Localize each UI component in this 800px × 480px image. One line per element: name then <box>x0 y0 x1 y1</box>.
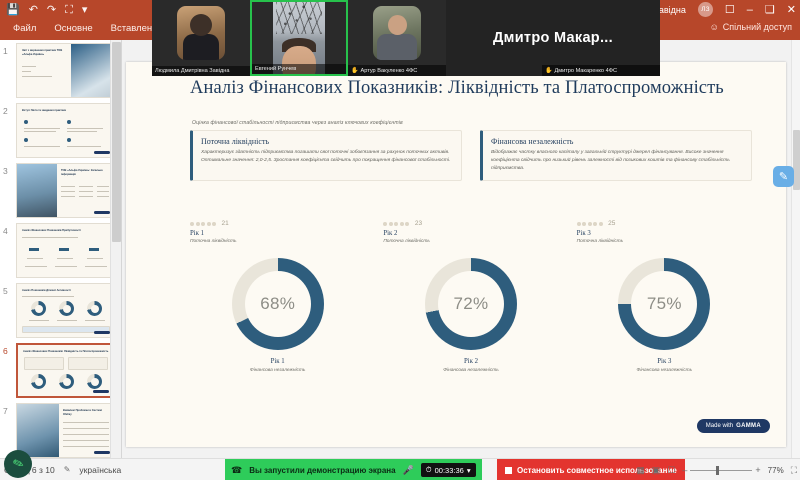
zoom-track[interactable] <box>690 470 752 471</box>
customize-qat-icon[interactable]: ▾ <box>82 5 88 16</box>
rating-dot <box>196 222 200 226</box>
gamma-badge <box>94 451 110 455</box>
participant-tile-3-spotlight[interactable]: Дмитро Макар... ✋ Дмитро Макаренко 4ФС <box>446 0 660 76</box>
donut-chart: 68% <box>232 258 324 350</box>
donut-value: 72% <box>454 294 489 314</box>
person-icon: ☺ <box>710 22 719 32</box>
donut-year-2: 72% Рік 2 Фінансова незалежність <box>383 258 558 373</box>
redo-icon[interactable]: ↷ <box>47 5 56 16</box>
stat-label: Рік 3 <box>577 230 752 237</box>
stat-sublabel: Поточна ліквідність <box>190 239 365 244</box>
slide-thumbnail-panel[interactable]: 1 Звіт з вирішення практики ТОВ «Альфа У… <box>0 40 122 458</box>
share-timer[interactable]: ⏱ 00:33:36 ▾ <box>421 463 476 477</box>
tab-file[interactable]: Файл <box>4 20 45 37</box>
thumbnail-panel-scrollbar[interactable] <box>110 40 121 458</box>
card-body: Характеризує здатність підприємства пога… <box>201 149 453 165</box>
slide-title: Аналіз Фінансових Показників: Ліквідніст… <box>190 78 756 99</box>
gamma-badge <box>94 211 110 215</box>
window-controls[interactable]: ла Завідна ЛЗ ☐ – ❑ ✕ <box>641 2 796 17</box>
gamma-badge <box>94 151 110 155</box>
thumb-image <box>17 404 59 458</box>
stat-label: Рік 2 <box>383 230 558 237</box>
donut-sublabel: Фінансова незалежність <box>250 368 306 373</box>
rating-dot <box>599 222 603 226</box>
donut-sublabel: Фінансова незалежність <box>443 368 499 373</box>
scrollbar-thumb[interactable] <box>112 42 121 242</box>
participant-avatar-2 <box>373 6 421 60</box>
thumb-image <box>71 44 114 98</box>
stop-icon <box>505 467 512 474</box>
rating-dot <box>588 222 592 226</box>
stats-row: 21 Рік 1 Поточна ліквідність 23 Рік 2 По… <box>190 220 752 244</box>
avatar[interactable]: ЛЗ <box>698 2 713 17</box>
donut-year-1: 68% Рік 1 Фінансова незалежність <box>190 258 365 373</box>
rating-value: 25 <box>608 220 615 227</box>
participant-label-3: ✋ Дмитро Макаренко 4ФС <box>542 65 660 76</box>
quick-access-toolbar[interactable]: 💾 ↶ ↷ ⛶ ▾ <box>6 2 87 18</box>
normal-view-icon[interactable]: ▦ <box>636 465 645 476</box>
minimize-icon[interactable]: – <box>747 4 753 16</box>
rating-dot <box>201 222 205 226</box>
slide-thumbnail-2[interactable]: 2 Вступ: Мета та завдання практики <box>0 100 121 160</box>
stat-year-2: 23 Рік 2 Поточна ліквідність <box>383 220 558 244</box>
card-financial-independence: Фінансова незалежність Відображає частку… <box>480 130 752 181</box>
stat-label: Рік 1 <box>190 230 365 237</box>
chevron-down-icon[interactable]: ▾ <box>467 466 471 475</box>
rating-dot <box>400 222 404 226</box>
save-icon[interactable]: 💾 <box>6 5 20 16</box>
slide-thumbnail-6[interactable]: 6 Аналіз Фінансових Показників: Ліквідні… <box>0 340 121 400</box>
slide-thumbnail-3[interactable]: 3 ТОВ «Альфа Україна»: Загальна інформац… <box>0 160 121 220</box>
zoom-in-icon[interactable]: + <box>755 465 760 475</box>
phone-icon[interactable]: ☎ <box>231 465 242 476</box>
donut-label: Рік 3 <box>657 358 671 365</box>
participant-video-0 <box>152 0 250 76</box>
card-heading: Поточна ліквідність <box>201 137 453 146</box>
floating-tools-button[interactable]: ✎ <box>773 166 794 187</box>
start-presentation-icon[interactable]: ⛶ <box>65 5 73 16</box>
gamma-badge <box>94 331 110 335</box>
stat-year-3: 25 Рік 3 Поточна ліквідність <box>577 220 752 244</box>
rating-dot <box>582 222 586 226</box>
rating-dots: 21 <box>190 220 365 227</box>
status-right: ▦ ▣ ☐ – + 77% ⛶ <box>636 459 797 480</box>
pen-icon: ✎ <box>10 455 26 474</box>
ribbon-display-options-icon[interactable]: ☐ <box>725 3 735 16</box>
thumb-image <box>17 164 57 218</box>
donut-chart: 72% <box>425 258 517 350</box>
thumbnail-preview[interactable]: Аналіз Фінансових Показників Прибутковос… <box>16 223 114 278</box>
reading-view-icon[interactable]: ☐ <box>667 465 675 476</box>
card-heading: Фінансова незалежність <box>491 137 743 146</box>
spotlight-name: Дмитро Макар... <box>493 30 613 46</box>
close-icon[interactable]: ✕ <box>787 3 796 16</box>
gamma-brand: GAMMA <box>736 423 761 429</box>
donut-sublabel: Фінансова незалежність <box>637 368 693 373</box>
participant-tile-1[interactable]: Евгений Рунчев <box>250 0 348 76</box>
thumbnail-number: 5 <box>3 286 8 296</box>
rating-value: 23 <box>415 220 422 227</box>
slide-subtitle: Оцінка фінансової стабільності підприємс… <box>192 120 403 126</box>
rating-dots: 25 <box>577 220 752 227</box>
thumbnail-number: 4 <box>3 226 8 236</box>
donut-label: Рік 1 <box>271 358 285 365</box>
undo-icon[interactable]: ↶ <box>29 5 38 16</box>
annotation-pen-button[interactable]: ✎ <box>4 450 32 478</box>
made-with-gamma-badge[interactable]: Made with GAMMA <box>697 419 770 433</box>
thumbnail-number: 2 <box>3 106 8 116</box>
donut-chart: 75% <box>618 258 710 350</box>
scrollbar-thumb[interactable] <box>793 130 800 190</box>
thumbnail-number: 1 <box>3 46 8 56</box>
thumbnail-preview[interactable]: ТОВ «Альфа Україна»: Загальна інформація <box>16 163 114 218</box>
mic-icon[interactable]: 🎤 <box>403 465 414 476</box>
card-current-liquidity: Поточна ліквідність Характеризує здатніс… <box>190 130 462 181</box>
fit-to-window-icon[interactable]: ⛶ <box>791 465 797 476</box>
language-label[interactable]: українська <box>79 465 121 475</box>
rating-dot <box>190 222 194 226</box>
thumbnail-preview[interactable]: Виявлені Проблеми в Системі Обліку <box>16 403 114 458</box>
donut-year-3: 75% Рік 3 Фінансова незалежність <box>577 258 752 373</box>
stat-sublabel: Поточна ліквідність <box>383 239 558 244</box>
thumbnail-preview[interactable]: Аналіз Показників Ділової Активності <box>16 283 114 338</box>
participant-label-0: Людмила Дмитрівна Завідна <box>152 66 250 76</box>
slide-canvas-area[interactable]: ✎ Аналіз Фінансових Показників: Ліквідні… <box>122 40 800 458</box>
mic-off-icon: ✋ <box>545 67 552 74</box>
rating-dot <box>405 222 409 226</box>
participant-label-1: Евгений Рунчев <box>252 64 346 74</box>
rating-dot <box>394 222 398 226</box>
rating-dots: 23 <box>383 220 558 227</box>
donut-value: 75% <box>647 294 682 314</box>
share-button[interactable]: ☺ Спільний доступ <box>710 22 792 32</box>
tree-background <box>276 2 322 34</box>
donut-chart-row: 68% Рік 1 Фінансова незалежність 72% Рік… <box>190 258 752 373</box>
thumbnail-number: 6 <box>3 346 8 356</box>
rating-dot <box>212 222 216 226</box>
stat-sublabel: Поточна ліквідність <box>577 239 752 244</box>
clock-icon: ⏱ <box>426 465 432 475</box>
card-body: Відображає частку власного капіталу у за… <box>491 149 743 173</box>
concept-cards: Поточна ліквідність Характеризує здатніс… <box>190 130 752 181</box>
share-label: Спільний доступ <box>723 22 792 32</box>
rating-dot <box>593 222 597 226</box>
zoom-video-filmstrip[interactable]: Людмила Дмитрівна Завідна Евгений Рунчев… <box>152 0 660 76</box>
zoom-slider[interactable]: – + <box>682 465 760 475</box>
rating-dot <box>207 222 211 226</box>
thumbnail-number: 3 <box>3 166 8 176</box>
stat-year-1: 21 Рік 1 Поточна ліквідність <box>190 220 365 244</box>
thumbnail-number: 7 <box>3 406 8 416</box>
zoom-out-icon[interactable]: – <box>682 465 687 475</box>
participant-avatar-0 <box>177 6 225 60</box>
participant-tile-0[interactable]: Людмила Дмитрівна Завідна <box>152 0 250 76</box>
slide-thumbnail-1[interactable]: 1 Звіт з вирішення практики ТОВ «Альфа У… <box>0 40 121 100</box>
donut-value: 68% <box>260 294 295 314</box>
donut-label: Рік 2 <box>464 358 478 365</box>
rating-dot <box>577 222 581 226</box>
thumbnail-preview[interactable]: Звіт з вирішення практики ТОВ «Альфа Укр… <box>16 43 114 98</box>
rating-value: 21 <box>222 220 229 227</box>
rating-dot <box>383 222 387 226</box>
screen-share-message: Вы запустили демонстрацию экрана <box>249 466 395 475</box>
status-bar: Слайд 6 з 10 ✎ українська ☎ Вы запустили… <box>0 458 800 480</box>
participant-label-2: ✋ Артур Вакуленко 4ФС <box>348 65 446 76</box>
thumbnail-preview[interactable]: Аналіз Фінансових Показників: Ліквідніст… <box>16 343 114 398</box>
zoom-percent[interactable]: 77% <box>768 466 784 475</box>
gamma-prefix: Made with <box>706 423 733 429</box>
designer-icon: ✎ <box>779 170 788 183</box>
slide-thumbnail-4[interactable]: 4 Аналіз Фінансових Показників Прибутков… <box>0 220 121 280</box>
canvas-vertical-scrollbar[interactable] <box>791 40 800 458</box>
slide-thumbnail-5[interactable]: 5 Аналіз Показників Ділової Активності <box>0 280 121 340</box>
maximize-icon[interactable]: ❑ <box>765 3 775 16</box>
thumbnail-preview[interactable]: Вступ: Мета та завдання практики <box>16 103 114 158</box>
rating-dot <box>389 222 393 226</box>
zoom-knob[interactable] <box>716 466 719 475</box>
participant-tile-2[interactable]: ✋ Артур Вакуленко 4ФС <box>348 0 446 76</box>
zoom-share-banner: ☎ Вы запустили демонстрацию экрана 🎤 ⏱ 0… <box>225 459 482 480</box>
timer-value: 00:33:36 <box>435 466 464 475</box>
mic-off-icon: ✋ <box>351 67 358 74</box>
tab-home[interactable]: Основне <box>45 20 101 37</box>
slide-sorter-icon[interactable]: ▣ <box>652 465 661 476</box>
current-slide[interactable]: Аналіз Фінансових Показників: Ліквідніст… <box>126 62 786 447</box>
notes-icon[interactable]: ✎ <box>64 465 71 474</box>
gamma-badge <box>93 390 109 394</box>
